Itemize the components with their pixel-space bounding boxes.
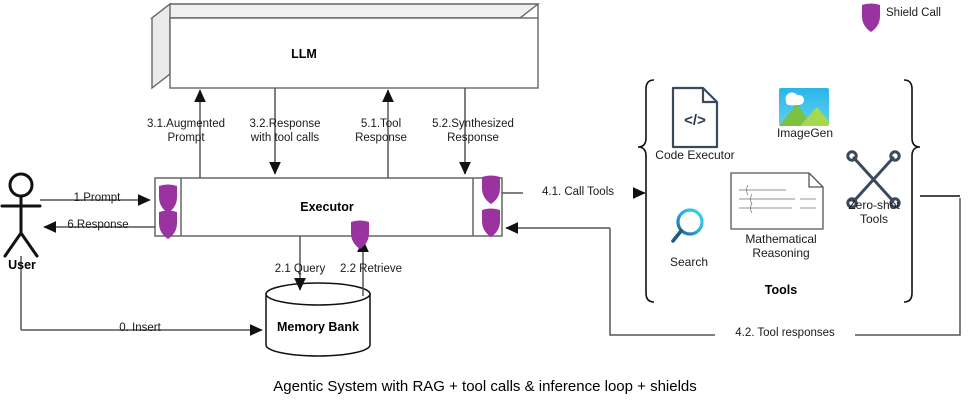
edge-label-tool-responses: 4.2. Tool responses [715, 327, 855, 341]
tool-label-zeroshot: Zero-shot Tools [819, 198, 929, 226]
edge-label-synthesized-response: 5.2.Synthesized Response [418, 118, 528, 145]
svg-text:</>: </> [684, 112, 706, 129]
tools-group-label: Tools [731, 283, 831, 297]
shield-icon-legend [862, 4, 880, 33]
tools-right-brace [904, 80, 920, 302]
llm-node [152, 4, 538, 88]
magnifier-icon [673, 210, 702, 241]
edge-label-response-tool-calls: 3.2.Response with tool calls [230, 118, 340, 145]
user-actor [2, 174, 40, 256]
edge-label-tool-response: 5.1.Tool Response [336, 118, 426, 145]
diagram-caption: Agentic System with RAG + tool calls & i… [135, 378, 835, 395]
edge-label-insert: 0. Insert [95, 322, 185, 336]
llm-label: LLM [254, 47, 354, 61]
user-label: User [0, 258, 62, 272]
edge-label-response: 6.Response [48, 219, 148, 233]
diagram-canvas: </> [0, 0, 970, 411]
code-document-icon: </> [673, 88, 717, 147]
legend-shield-label: Shield Call [886, 7, 941, 19]
edge-label-prompt: 1.Prompt [52, 192, 142, 206]
edge-label-augmented-prompt: 3.1.Augmented Prompt [136, 118, 236, 145]
edge-label-call-tools: 4.1. Call Tools [523, 186, 633, 200]
executor-label: Executor [267, 200, 387, 214]
shield-icon-memory [351, 221, 369, 250]
tool-label-math: Mathematical Reasoning [711, 232, 851, 260]
tool-label-code-executor: Code Executor [635, 148, 755, 162]
formula-document-icon [731, 173, 823, 229]
image-icon [779, 88, 833, 126]
tool-label-imagegen: ImageGen [750, 126, 860, 140]
edge-label-retrieve: 2.2 Retrieve [326, 263, 416, 277]
memory-bank-label: Memory Bank [248, 320, 388, 334]
